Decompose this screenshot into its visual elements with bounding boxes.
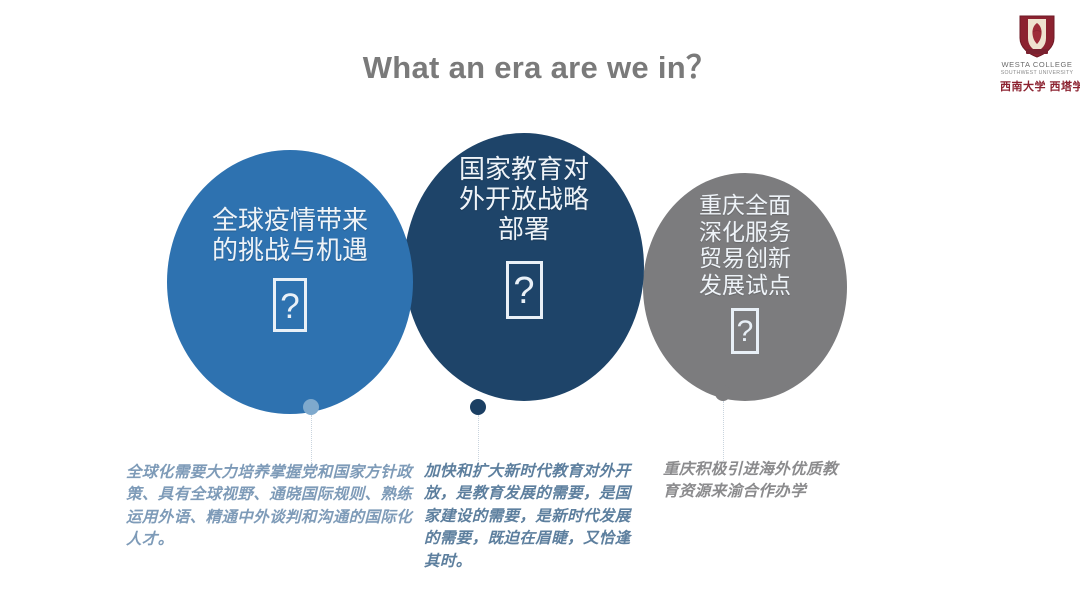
shield-crest-icon xyxy=(1018,14,1056,58)
slide-canvas: What an era are we in？ WESTA COLLEGE SOU… xyxy=(0,0,1080,604)
logo-english-university: SOUTHWEST UNIVERSITY xyxy=(1000,70,1074,76)
bubble-chongqing-pilot[interactable]: 重庆全面 深化服务 贸易创新 发展试点 ? xyxy=(643,173,847,401)
bubble-2-glyph-box: ? xyxy=(506,261,543,319)
bubble-2-label: 国家教育对 外开放战略 部署 xyxy=(459,155,589,245)
caption-chongqing-overseas-resources: 重庆积极引进海外优质教育资源来渝合作办学 xyxy=(663,459,853,504)
caption-globalization-talent: 全球化需要大力培养掌握党和国家方针政策、具有全球视野、通晓国际规则、熟练运用外语… xyxy=(126,462,418,552)
bubble-1-label: 全球疫情带来 的挑战与机遇 xyxy=(212,206,368,266)
bubble-3-label: 重庆全面 深化服务 贸易创新 发展试点 xyxy=(699,193,791,300)
bubble-global-pandemic[interactable]: 全球疫情带来 的挑战与机遇 ? xyxy=(167,150,413,414)
page-title: What an era are we in？ xyxy=(0,42,1080,87)
bubble-1-glyph-box: ? xyxy=(273,278,307,332)
connector-line-2 xyxy=(478,415,479,463)
logo-english-name: WESTA COLLEGE xyxy=(1000,60,1074,69)
westa-college-logo: WESTA COLLEGE SOUTHWEST UNIVERSITY 西南大学 … xyxy=(1000,14,1074,94)
connector-dot-3 xyxy=(715,385,731,401)
connector-line-3 xyxy=(723,401,724,463)
connector-line-1 xyxy=(311,415,312,463)
logo-chinese-name: 西南大学 西塔学院 xyxy=(1000,78,1074,94)
bubble-national-education-strategy[interactable]: 国家教育对 外开放战略 部署 ? xyxy=(404,133,644,401)
bubble-3-glyph-box: ? xyxy=(731,308,759,354)
caption-education-opening-up: 加快和扩大新时代教育对外开放，是教育发展的需要，是国家建设的需要，是新时代发展的… xyxy=(424,461,636,573)
connector-dot-2 xyxy=(470,399,486,415)
connector-dot-1 xyxy=(303,399,319,415)
